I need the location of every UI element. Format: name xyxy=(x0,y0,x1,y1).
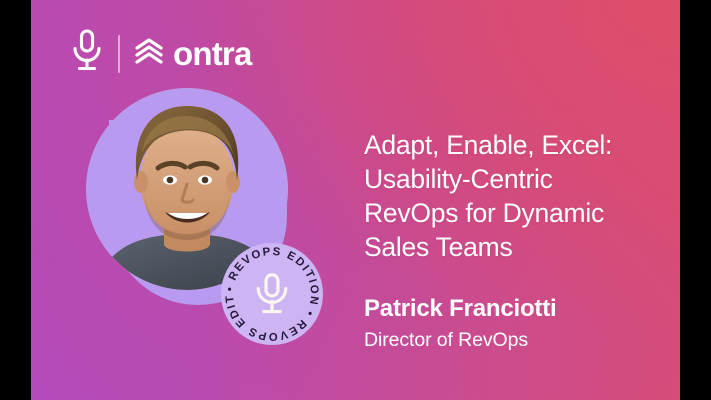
title-line-2: Usability-Centric xyxy=(364,164,553,194)
speaker-name: Patrick Franciotti xyxy=(364,295,674,323)
speaker-role: Director of RevOps xyxy=(364,328,674,352)
ontra-chevrons-icon xyxy=(134,36,164,71)
title-line-3: RevOps for Dynamic xyxy=(364,198,604,228)
webinar-title-card: ontra xyxy=(31,0,680,400)
title-and-speaker-block: Adapt, Enable, Excel: Usability-Centric … xyxy=(364,128,674,352)
title-line-4: Sales Teams xyxy=(364,232,512,262)
title-line-1: Adapt, Enable, Excel: xyxy=(364,130,612,160)
brand-lockup: ontra xyxy=(70,29,252,78)
speaker-info: Patrick Franciotti Director of RevOps xyxy=(364,295,674,352)
ontra-wordmark: ontra xyxy=(173,37,252,70)
microphone-icon xyxy=(70,29,104,78)
screenshot-root: ontra xyxy=(0,0,711,400)
logo-divider xyxy=(118,35,120,73)
page-title: Adapt, Enable, Excel: Usability-Centric … xyxy=(364,128,674,264)
revops-edition-badge: • REVOPS EDITION • REVOPS EDITION xyxy=(221,243,323,345)
ontra-logo: ontra xyxy=(134,36,252,71)
